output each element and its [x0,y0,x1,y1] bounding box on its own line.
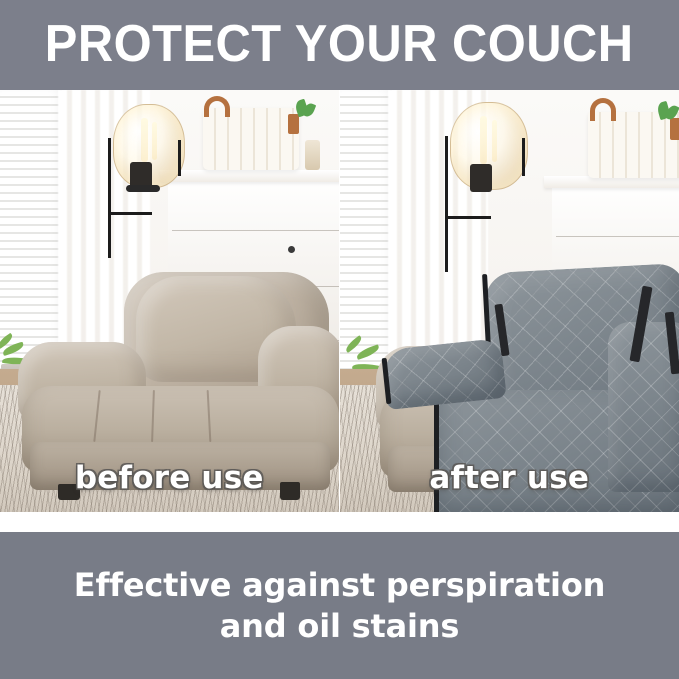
before-label: before use [0,460,339,496]
lamp-collar [470,164,492,192]
basket-handle [204,96,230,117]
dresser-knob [288,246,295,253]
page-title: PROTECT YOUR COUCH [45,18,634,72]
product-feature-poster: PROTECT YOUR COUCH [0,0,679,679]
lamp-filament [492,120,497,162]
white-divider [0,512,679,532]
before-after-comparison: before use [0,90,679,512]
lamp-filament [152,122,157,160]
header-banner: PROTECT YOUR COUCH [0,0,679,90]
woven-basket [203,108,299,170]
footer-banner: Effective against perspiration and oil s… [0,532,679,679]
dresser-drawer-line [556,236,679,237]
lamp-post [522,138,525,176]
before-photo: before use [0,90,339,512]
lamp-post [178,140,181,176]
basket-leather-tab [670,118,679,140]
after-label: after use [340,460,679,496]
after-photo: after use [339,90,679,512]
footer-text-line-1: Effective against perspiration [74,565,605,605]
lamp-crossbar [445,216,491,219]
lamp-post [108,138,111,258]
basket-leather-tab [288,114,299,134]
lamp-crossbar [108,212,152,215]
dresser-top [160,170,339,182]
lamp-filament [480,116,487,164]
lamp-filament [141,118,148,162]
footer-text-line-2: and oil stains [220,606,459,646]
dresser-drawer-line [172,230,339,231]
candle-jar [305,140,320,170]
lamp-post [445,136,448,272]
basket-handle [590,98,616,121]
lamp-base-plate [126,185,160,192]
woven-basket [588,112,679,178]
